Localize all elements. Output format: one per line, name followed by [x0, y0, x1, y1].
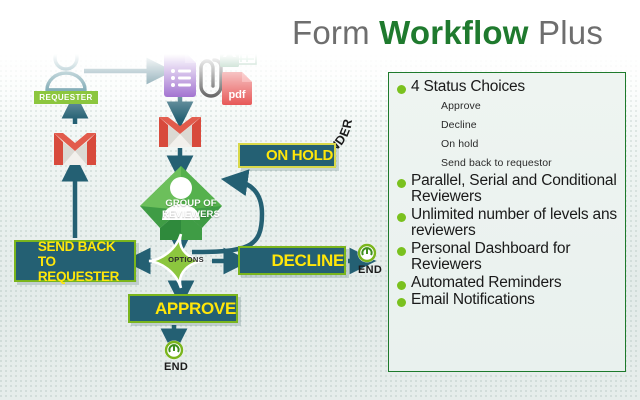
feature-bullet-label: Automated Reminders: [411, 275, 561, 292]
title-part-workflow: Workflow: [379, 14, 529, 51]
feature-sub-item: On hold: [441, 135, 619, 154]
on-hold-label: ON HOLD: [266, 147, 333, 164]
feature-bullet-label: Unlimited number of levels ans reviewers: [411, 207, 619, 240]
group-of-reviewers-label: GROUP OF REVIEWERS: [148, 199, 234, 220]
bullet-dot-icon: [397, 85, 406, 94]
svg-text:pdf: pdf: [228, 89, 245, 101]
feature-bullet-label: Parallel, Serial and Conditional Reviewe…: [411, 173, 619, 206]
bullet-dot-icon: [397, 298, 406, 307]
feature-bullet-label: Email Notifications: [411, 292, 535, 309]
title-part-form: Form: [292, 14, 370, 51]
gmail-icon-left: [54, 133, 96, 165]
reviewers-label-line1: GROUP OF: [148, 199, 234, 210]
bullet-dot-icon: [397, 281, 406, 290]
requester-label: REQUESTER: [34, 91, 98, 104]
reviewers-label-line2: REVIEWERS: [148, 210, 234, 221]
approve-box[interactable]: APPROVE: [128, 294, 238, 323]
feature-bullet: Personal Dashboard for Reviewers: [395, 241, 619, 274]
feature-bullet: 4 Status Choices: [395, 79, 619, 96]
end-label-decline: END: [358, 264, 382, 276]
diagram-canvas: X pdf: [0, 0, 640, 400]
feature-sub-item: Decline: [441, 116, 619, 135]
options-label: OPTIONS: [155, 255, 217, 264]
feature-bullet: Automated Reminders: [395, 275, 619, 292]
bullet-dot-icon: [397, 213, 406, 222]
send-back-line2: TO REQUESTER: [38, 254, 128, 284]
send-back-to-requester-box[interactable]: SEND BACK TO REQUESTER: [14, 240, 136, 282]
end-icon-decline: [358, 244, 377, 263]
decline-label: DECLINE: [271, 251, 344, 271]
feature-bullet: Unlimited number of levels ans reviewers: [395, 207, 619, 240]
feature-bullet-label: 4 Status Choices: [411, 79, 525, 96]
decline-box[interactable]: DECLINE: [238, 246, 346, 275]
send-back-label: SEND BACK TO REQUESTER: [38, 239, 128, 284]
google-forms-icon: [164, 52, 196, 97]
page-title: Form Workflow Plus: [292, 14, 603, 52]
requester-icon: [47, 47, 85, 90]
gmail-icon-center: [159, 117, 201, 147]
features-panel: 4 Status ChoicesApproveDeclineOn holdSen…: [388, 72, 626, 372]
feature-bullet-label: Personal Dashboard for Reviewers: [411, 241, 619, 274]
bullet-dot-icon: [397, 247, 406, 256]
svg-text:X: X: [222, 39, 236, 62]
on-hold-box[interactable]: ON HOLD: [238, 143, 336, 168]
pdf-icon: pdf: [222, 72, 252, 105]
bullet-dot-icon: [397, 179, 406, 188]
features-list: 4 Status ChoicesApproveDeclineOn holdSen…: [395, 79, 619, 309]
end-icon-approve: [165, 341, 184, 360]
end-label-approve: END: [164, 361, 188, 373]
feature-bullet: Email Notifications: [395, 292, 619, 309]
feature-bullet: Parallel, Serial and Conditional Reviewe…: [395, 173, 619, 206]
feature-sub-item: Approve: [441, 97, 619, 116]
paperclip-icon: [201, 60, 221, 96]
excel-icon: X: [220, 30, 256, 67]
send-back-line1: SEND BACK: [38, 239, 128, 254]
approve-label: APPROVE: [155, 299, 236, 319]
title-part-plus: Plus: [538, 14, 603, 51]
feature-sub-item: Send back to requestor: [441, 154, 619, 173]
